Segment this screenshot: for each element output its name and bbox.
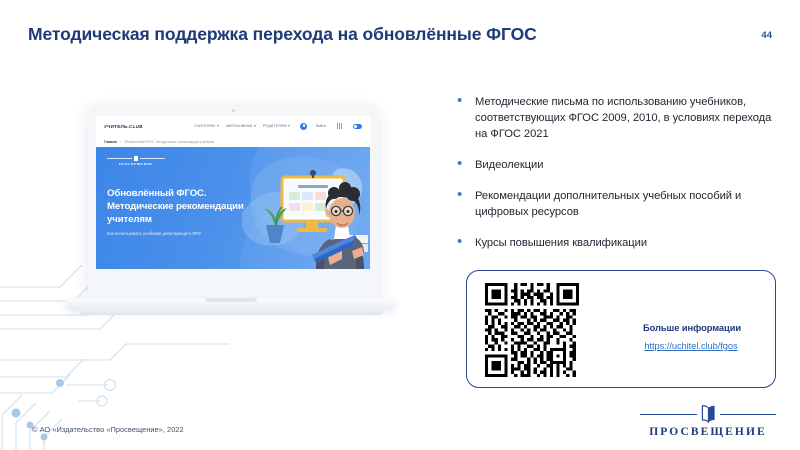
laptop-base bbox=[66, 298, 396, 310]
hero-brand-logo: ПРОСВЕЩЕНИЕ bbox=[107, 156, 165, 166]
brand-logo: ПРОСВЕЩЕНИЕ bbox=[640, 405, 776, 438]
laptop-screen: УЧИТЕЛЬ.CLUB УЧИТЕЛЯМ ШКОЛЬНИКАМ РОДИТЕЛ… bbox=[96, 116, 370, 293]
grid-menu-icon[interactable] bbox=[337, 123, 342, 128]
copyright-text: © АО «Издательство «Просвещение», 2022 bbox=[32, 425, 184, 434]
nav-item-students-label: ШКОЛЬНИКАМ bbox=[226, 124, 253, 128]
bullet-marker-icon: • bbox=[455, 188, 475, 220]
theme-toggle[interactable] bbox=[353, 124, 362, 129]
breadcrumb-current: Обновлённый ФГОС. Методические рекоменда… bbox=[124, 140, 214, 144]
page-title: Методическая поддержка перехода на обнов… bbox=[28, 24, 537, 45]
site-nav-links: УЧИТЕЛЯМ ШКОЛЬНИКАМ РОДИТЕЛЯМ Войти bbox=[194, 123, 362, 130]
nav-item-teachers[interactable]: УЧИТЕЛЯМ bbox=[194, 124, 218, 128]
qr-code[interactable] bbox=[485, 283, 579, 377]
bullet-item: • Курсы повышения квалификации bbox=[455, 235, 775, 251]
bullet-item-text: Курсы повышения квалификации bbox=[475, 235, 775, 251]
qr-info-card: Больше информации https://uchitel.club/f… bbox=[466, 270, 776, 388]
chevron-down-icon bbox=[288, 125, 290, 127]
login-button[interactable]: Войти bbox=[316, 124, 326, 128]
site-hero-banner: ПРОСВЕЩЕНИЕ Обновлённый ФГОС. Методическ… bbox=[96, 147, 370, 269]
nav-item-teachers-label: УЧИТЕЛЯМ bbox=[194, 124, 215, 128]
hero-brand-name: ПРОСВЕЩЕНИЕ bbox=[107, 162, 165, 166]
qr-caption: Больше информации bbox=[617, 323, 767, 333]
page-number: 44 bbox=[761, 30, 772, 41]
laptop-foot bbox=[78, 310, 384, 315]
book-icon bbox=[701, 405, 716, 424]
chevron-down-icon bbox=[254, 125, 256, 127]
book-icon bbox=[134, 156, 138, 161]
breadcrumb: Главная > Обновлённый ФГОС. Методические… bbox=[96, 136, 370, 147]
breadcrumb-separator: > bbox=[119, 140, 121, 144]
nav-item-parents-label: РОДИТЕЛЯМ bbox=[263, 124, 287, 128]
slide-root: Методическая поддержка перехода на обнов… bbox=[0, 0, 800, 450]
bullet-item-text: Методические письма по использованию уче… bbox=[475, 94, 775, 142]
avatar-icon[interactable] bbox=[300, 123, 307, 130]
bullet-marker-icon: • bbox=[455, 235, 475, 251]
bullet-item: • Видеолекции bbox=[455, 157, 775, 173]
brand-rule-right bbox=[720, 414, 777, 416]
laptop-camera-icon bbox=[232, 109, 235, 112]
breadcrumb-home[interactable]: Главная bbox=[104, 140, 117, 144]
site-logo[interactable]: УЧИТЕЛЬ.CLUB bbox=[104, 124, 143, 129]
chevron-down-icon bbox=[217, 125, 219, 127]
laptop-lid: УЧИТЕЛЬ.CLUB УЧИТЕЛЯМ ШКОЛЬНИКАМ РОДИТЕЛ… bbox=[88, 104, 378, 301]
bullet-item-text: Рекомендации дополнительных учебных посо… bbox=[475, 188, 775, 220]
bullet-marker-icon: • bbox=[455, 157, 475, 173]
bullet-list: • Методические письма по использованию у… bbox=[455, 94, 775, 266]
nav-item-students[interactable]: ШКОЛЬНИКАМ bbox=[226, 124, 256, 128]
site-page-footer bbox=[96, 269, 370, 293]
bullet-marker-icon: • bbox=[455, 94, 475, 142]
bullet-item-text: Видеолекции bbox=[475, 157, 775, 173]
nav-item-parents[interactable]: РОДИТЕЛЯМ bbox=[263, 124, 290, 128]
laptop-mockup: УЧИТЕЛЬ.CLUB УЧИТЕЛЯМ ШКОЛЬНИКАМ РОДИТЕЛ… bbox=[66, 104, 396, 332]
brand-name: ПРОСВЕЩЕНИЕ bbox=[640, 426, 776, 438]
bullet-item: • Рекомендации дополнительных учебных по… bbox=[455, 188, 775, 220]
bullet-item: • Методические письма по использованию у… bbox=[455, 94, 775, 142]
site-navbar: УЧИТЕЛЬ.CLUB УЧИТЕЛЯМ ШКОЛЬНИКАМ РОДИТЕЛ… bbox=[96, 116, 370, 136]
brand-rule-left bbox=[640, 414, 697, 416]
qr-link[interactable]: https://uchitel.club/fgos bbox=[611, 341, 771, 351]
hero-illustration bbox=[242, 147, 370, 269]
